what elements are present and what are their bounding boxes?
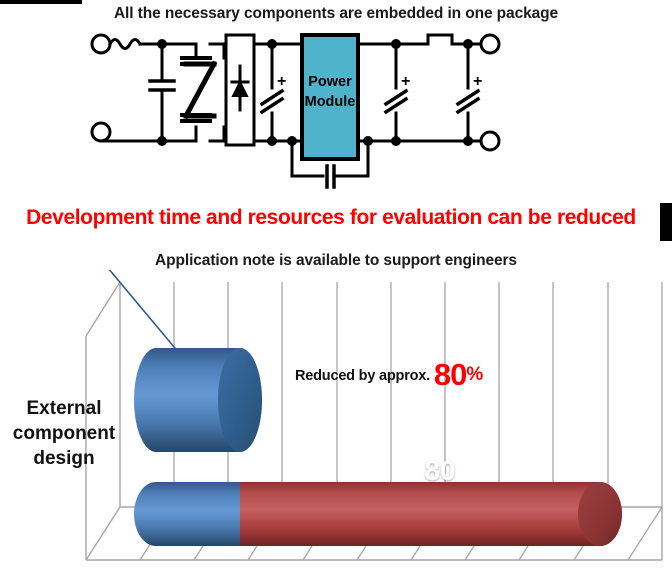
input-terminal-top-icon (92, 35, 110, 53)
reduction-annotation-unit: % (466, 364, 483, 385)
reduction-annotation: Reduced by approx. 80% (295, 357, 483, 393)
input-inductor-icon (110, 40, 140, 49)
long-red-segment-body (240, 482, 622, 546)
short-blue-cylinder-cap (218, 348, 262, 452)
capacitor-polarity-plus-1: + (277, 73, 286, 90)
long-blue-segment-body (134, 482, 240, 546)
bar-row-after (134, 348, 262, 452)
reduction-annotation-text: Reduced by approx. (295, 368, 430, 384)
reduction-annotation-value: 80 (434, 357, 466, 392)
output-terminal-bottom-icon (481, 132, 499, 150)
circuit-diagram: + + + Power Module (0, 24, 672, 194)
power-module-label-line1: Power (308, 74, 352, 90)
headline-reduced: Development time and resources for evalu… (0, 206, 662, 230)
input-terminal-bottom-icon (92, 123, 110, 141)
capacitor-polarity-plus-3: + (473, 73, 482, 90)
page-title: All the necessary components are embedde… (0, 5, 672, 23)
capacitor-polarity-plus-2: + (401, 73, 410, 90)
axis-label-line-3: design (4, 446, 124, 471)
long-red-segment-cap (578, 482, 622, 546)
bar-row-before (134, 482, 622, 546)
subtitle-application-note: Application note is available to support… (0, 252, 672, 270)
bar-data-label-80: 80 (380, 455, 500, 487)
axis-label-line-1: External (4, 396, 124, 421)
axis-label-line-2: component (4, 421, 124, 446)
category-axis-label: External component design (4, 396, 124, 471)
top-left-decor-bar (0, 0, 82, 4)
power-module-label-line2: Module (305, 94, 356, 110)
output-terminal-top-icon (481, 35, 499, 53)
